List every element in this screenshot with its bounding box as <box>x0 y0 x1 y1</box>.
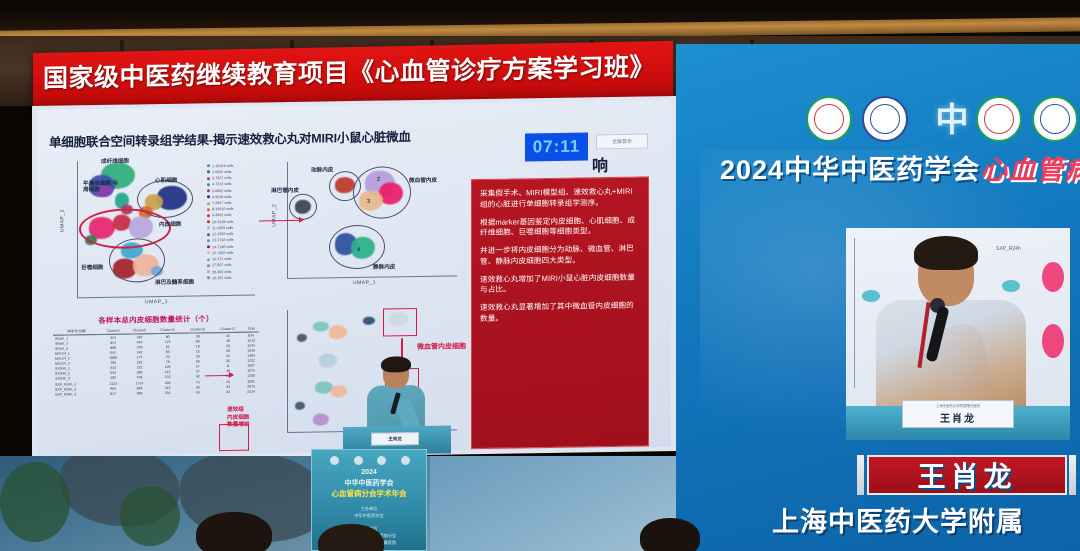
speaker-hair <box>914 236 978 270</box>
table-cell: 43 <box>183 389 213 395</box>
legend-label: 18-369 cells <box>212 270 231 274</box>
legend-item: 8-10910 cells <box>207 206 257 212</box>
podium-logos <box>330 456 410 466</box>
legend-swatch <box>207 252 210 255</box>
legend-swatch <box>207 277 210 280</box>
y-axis <box>287 310 288 432</box>
legend-swatch <box>207 264 210 267</box>
slide-title-tail: 响 <box>592 152 608 176</box>
spatial-blob <box>313 321 329 331</box>
fullscreen-button[interactable]: 全屏显示 <box>596 134 648 150</box>
legend-label: 17-557 cells <box>212 263 231 267</box>
table-cell: 817 <box>100 391 126 397</box>
logo-inner <box>1040 104 1070 134</box>
speaker-video-inset: SXP_R24h 效组 皮细胞 量增加 上海中医药大学附属曙光医院 王肖龙 <box>846 228 1070 440</box>
tcm-character-icon: 中 <box>932 100 972 140</box>
x-axis <box>287 275 457 279</box>
audience-head <box>640 518 700 551</box>
legend-swatch <box>207 233 210 236</box>
endothelial-highlight-ellipse <box>79 208 171 249</box>
umap1-legend: 1-10164 cells 2-5056 cells 3-7927 cells … <box>207 163 257 282</box>
bg-slide-dot <box>862 290 880 302</box>
podium-host-label: 主办单位 <box>312 506 426 512</box>
spatial-blob <box>319 353 337 367</box>
podium-line-2: 心血管病分会学术年会 <box>312 488 426 499</box>
bg-slide-dot <box>1042 324 1064 358</box>
umap1-ylabel: UMAP_2 <box>60 209 66 232</box>
conclusion-item: 速效救心丸显著增加了其中微血管内皮细胞的数量。 <box>480 301 640 325</box>
foliage <box>120 486 180 546</box>
bg-slide-axis <box>854 238 855 388</box>
legend-item: 16-371 cells <box>207 256 257 262</box>
organization-logos: 中 <box>806 96 1080 148</box>
plaque-bar-right <box>1069 455 1076 495</box>
logo-inner <box>814 104 844 134</box>
legend-swatch <box>207 214 210 217</box>
legend-swatch <box>207 189 210 192</box>
legend-swatch <box>207 245 210 248</box>
legend-label: 1-10164 cells <box>212 163 233 167</box>
umap1-label-1: 平滑肌细胞 与周细胞 <box>83 181 123 194</box>
umap2-label-2: 淋巴管内皮 <box>271 186 299 194</box>
conclusions-panel: 采集假手术、MIRI模型组、速效救心丸+MIRI组的心脏进行单细胞转录组学测序。… <box>471 176 649 449</box>
table-cell: 331 <box>153 390 183 396</box>
presenter-nameplate-text: 王肖龙 <box>388 436 402 442</box>
presenter-nameplate: 王肖龙 <box>371 432 419 446</box>
umap-plot-2: UMAP_2 UMAP_1 动脉内皮 微血管内皮 淋巴管内皮 静脉内皮 2 3 <box>273 155 473 298</box>
speaker-affiliation: 上海中医药大学附属 <box>772 500 1080 539</box>
legend-swatch <box>207 171 210 174</box>
legend-item: 19-152 cells <box>207 275 257 281</box>
legend-item: 6-5010 cells <box>207 194 257 200</box>
spatial-blob <box>329 325 347 339</box>
cluster-outline <box>353 166 411 219</box>
table-cell: 959 <box>126 390 152 396</box>
umap-plot-1: UMAP_2 UMAP_1 <box>59 152 264 310</box>
legend-swatch <box>207 202 210 205</box>
legend-swatch <box>207 196 210 199</box>
legend-label: 5-6002 cells <box>212 188 231 192</box>
legend-item: 14-7140 cells <box>207 244 257 250</box>
legend-item: 1-10164 cells <box>207 163 257 169</box>
foliage <box>0 462 70 542</box>
legend-swatch <box>207 208 210 211</box>
umap2-num-2: 2 <box>377 177 380 183</box>
speaker-nameplate-sub: 上海中医药大学附属曙光医院 <box>903 403 1013 408</box>
podium-logo-icon <box>354 456 363 465</box>
conclusion-item: 速效救心丸增加了MIRI小鼠心脏内皮细胞数量与占比。 <box>480 272 640 296</box>
conference-title-main: 2024中华中医药学会 <box>720 155 980 185</box>
podium-logo-icon <box>330 456 339 465</box>
legend-label: 15-7302 cells <box>212 251 233 255</box>
fullscreen-button-label: 全屏显示 <box>612 138 632 145</box>
legend-item: 15-7302 cells <box>207 250 257 256</box>
legend-item: 9-3562 cells <box>207 212 257 218</box>
endothelial-count-table: 各样本总内皮细胞数量统计（个） 样本号/分群 Cluster2 Cluster5… <box>53 312 259 455</box>
legend-label: 2-5056 cells <box>212 170 231 174</box>
legend-swatch <box>207 270 210 273</box>
conclusion-item: 根据marker基因鉴定内皮细胞、心肌细胞、成纤维细胞、巨噬细胞等细胞类型。 <box>480 215 640 239</box>
countdown-timer: 07:11 <box>525 133 588 162</box>
legend-label: 12-1502 cells <box>212 232 233 236</box>
legend-item: 18-369 cells <box>207 269 257 275</box>
y-axis <box>77 161 78 297</box>
org-logo-icon <box>976 96 1022 142</box>
legend-swatch <box>207 164 210 167</box>
umap1-xlabel: UMAP_1 <box>145 299 168 305</box>
legend-label: 19-152 cells <box>212 276 231 280</box>
legend-item: 2-5056 cells <box>207 169 257 175</box>
podium-host: 中华中医药学会 <box>312 513 426 519</box>
umap2-num-4: 4 <box>357 247 360 253</box>
umap1-label-4: 巨噬细胞 <box>81 263 103 271</box>
podium-logo-icon <box>401 456 410 465</box>
logo-inner <box>870 104 900 134</box>
umap2-label-3: 静脉内皮 <box>373 262 395 270</box>
umap2-num-3: 3 <box>367 199 370 205</box>
table-pointer-arrow <box>205 375 233 377</box>
speaker-nameplate-name: 王肖龙 <box>903 410 1013 425</box>
bg-slide-axis-label: SXP_R24h <box>996 246 1021 252</box>
spatial-blob <box>297 334 307 342</box>
speaker-name: 王肖龙 <box>917 455 1016 495</box>
conference-title-accent: 心血管病 <box>980 155 1080 185</box>
pointer-arrow <box>259 220 303 222</box>
umap2-label-1: 微血管内皮 <box>409 176 437 184</box>
legend-label: 7-2667 cells <box>212 201 231 205</box>
conference-title: 2024中华中医药学会心血管病 <box>720 148 1080 187</box>
podium-line-1: 中华中医药学会 <box>312 478 426 488</box>
event-banner-text: 国家级中医药继续教育项目《心血管诊疗方案学习班》 <box>43 47 667 95</box>
legend-label: 14-7140 cells <box>212 245 233 249</box>
table-row-label: SXP_R24h_3 <box>53 391 100 397</box>
umap1-label-3: 内皮细胞 <box>159 220 181 228</box>
legend-item: 3-7927 cells <box>207 175 257 181</box>
microvascular-box-top <box>383 308 417 337</box>
audience-head <box>196 512 272 551</box>
umap1-label-0: 成纤维细胞 <box>101 157 129 165</box>
logo-inner <box>984 104 1014 134</box>
legend-label: 16-371 cells <box>212 257 231 261</box>
legend-label: 9-3562 cells <box>212 213 231 217</box>
umap1-label-5: 淋巴及髓系细胞 <box>155 278 194 287</box>
speaker-name-plaque: 王肖龙 <box>867 455 1067 495</box>
legend-swatch <box>207 239 210 242</box>
legend-item: 5-6002 cells <box>207 187 257 193</box>
org-logo-icon <box>1032 96 1078 142</box>
legend-item: 13-1742 cells <box>207 237 257 243</box>
legend-item: 12-1502 cells <box>207 231 257 237</box>
legend-item: 4-7213 cells <box>207 181 257 187</box>
table-body: Sham_1323397803945874Sham_28244971198048… <box>53 332 259 397</box>
umap2-label-0: 动脉内皮 <box>311 165 333 173</box>
umap1-label-2: 心肌细胞 <box>155 176 177 184</box>
countdown-timer-value: 07:11 <box>533 137 581 158</box>
legend-swatch <box>207 177 210 180</box>
legend-label: 10-5418 cells <box>212 220 233 224</box>
conclusion-item: 采集假手术、MIRI模型组、速效救心丸+MIRI组的心脏进行单细胞转录组学测序。 <box>480 187 640 211</box>
podium-logo-icon <box>377 456 386 465</box>
legend-swatch <box>207 183 210 186</box>
legend-swatch <box>207 220 210 223</box>
screenshot-root: 国家级中医药继续教育项目《心血管诊疗方案学习班》 单细胞联合空间转录组学结果-揭… <box>0 0 1080 551</box>
x-axis <box>77 295 255 299</box>
table-cell: 34 <box>213 389 243 395</box>
legend-item: 11-1903 cells <box>207 225 257 231</box>
podium-year: 2024 <box>312 469 426 476</box>
legend-label: 11-1903 cells <box>212 226 233 230</box>
legend-label: 8-10910 cells <box>212 207 233 211</box>
legend-label: 4-7213 cells <box>212 182 231 186</box>
conclusion-item: 并进一步将内皮细胞分为动脉、微血管、淋巴管、静脉内皮细胞四大类型。 <box>480 244 640 268</box>
legend-label: 6-5010 cells <box>212 195 231 199</box>
bg-slide-dot <box>1042 262 1064 292</box>
legend-item: 7-2667 cells <box>207 200 257 206</box>
legend-item: 10-5418 cells <box>207 219 257 225</box>
legend-swatch <box>207 258 210 261</box>
legend-label: 3-7927 cells <box>212 176 231 180</box>
speaker-nameplate: 上海中医药大学附属曙光医院 王肖龙 <box>902 400 1014 428</box>
umap2-xlabel: UMAP_1 <box>353 280 376 286</box>
legend-label: 13-1742 cells <box>212 238 233 242</box>
table: 样本号/分群 Cluster2 Cluster5 Cluster11 Clust… <box>53 325 259 397</box>
presenter-hair <box>381 356 411 372</box>
table-cell: 2224 <box>243 389 259 394</box>
umap2-ylabel: UMAP_2 <box>272 204 278 227</box>
table-title: 各样本总内皮细胞数量统计（个） <box>53 312 259 326</box>
plaque-bar-left <box>857 455 864 495</box>
org-logo-icon <box>862 96 908 142</box>
spatial-blob <box>313 413 329 425</box>
spatial-blob <box>295 402 305 410</box>
slide-embedded-photo: 王肖龙 <box>337 341 457 455</box>
cluster-outline <box>289 194 317 220</box>
legend-item: 17-557 cells <box>207 262 257 268</box>
table-annotation: 速效组 内皮细胞 数量增加 <box>227 407 249 430</box>
spatial-blob <box>363 317 375 325</box>
bg-slide-dot <box>1002 280 1020 292</box>
legend-swatch <box>207 227 210 230</box>
org-logo-icon <box>806 96 852 142</box>
